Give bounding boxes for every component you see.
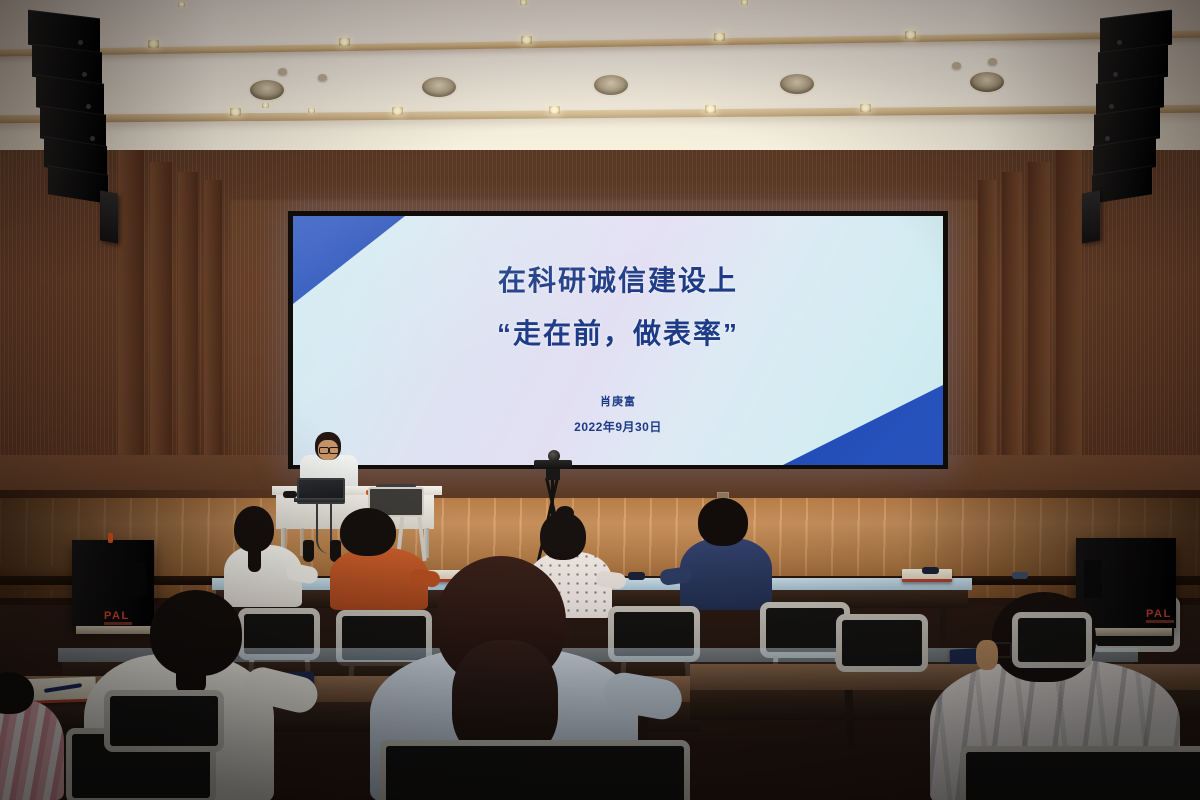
mouse-icon xyxy=(283,491,297,498)
camera-lens-icon xyxy=(548,450,560,462)
slide-author: 肖庚富 xyxy=(600,393,636,409)
subwoofer-brand-underline xyxy=(104,622,132,625)
presenter-glasses-icon xyxy=(329,447,339,454)
wall-speaker-right xyxy=(1082,190,1100,243)
slide-content: 在科研诚信建设上 “走在前，做表率” 肖庚富 2022年9月30日 xyxy=(293,216,943,465)
subwoofer-brand-left: PAL xyxy=(104,610,130,622)
smartphone xyxy=(922,567,939,574)
attendee-face xyxy=(976,640,998,670)
presenter-shoe xyxy=(303,540,314,562)
attendee-hair xyxy=(698,498,748,546)
slide-date: 2022年9月30日 xyxy=(574,418,662,435)
attendee-hair xyxy=(340,508,396,556)
lecture-hall-scene: 在科研诚信建设上 “走在前，做表率” 肖庚富 2022年9月30日 xyxy=(0,0,1200,800)
subwoofer-base xyxy=(76,626,152,634)
wall-speaker-left xyxy=(100,190,118,243)
attendee-ponytail xyxy=(176,652,206,694)
table-leg xyxy=(940,606,946,642)
smartphone xyxy=(628,572,645,580)
tripod-head xyxy=(546,468,560,480)
presenter-glasses-icon xyxy=(319,447,329,454)
microphone-icon xyxy=(108,533,113,543)
attendee-torso xyxy=(680,538,772,610)
smartphone xyxy=(1012,572,1028,579)
slide-title-line-1: 在科研诚信建设上 xyxy=(498,266,738,295)
attendee-ponytail xyxy=(248,546,261,572)
subwoofer-brand-right: PAL xyxy=(1146,608,1172,620)
slide-title-line-2: “走在前，做表率” xyxy=(497,312,739,352)
subwoofer-brand-underline xyxy=(1146,620,1174,623)
attendee-torso xyxy=(0,700,64,800)
projection-screen[interactable]: 在科研诚信建设上 “走在前，做表率” 肖庚富 2022年9月30日 xyxy=(293,216,943,465)
attendee-hair-bun xyxy=(556,506,574,520)
